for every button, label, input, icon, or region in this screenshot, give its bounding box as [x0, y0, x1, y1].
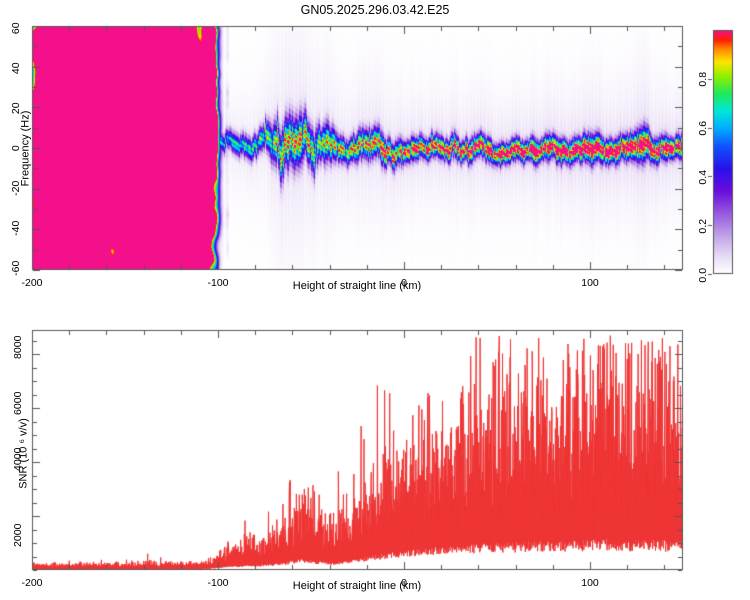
- top-x-tick-label: -100: [207, 278, 228, 289]
- bottom-y-tick-label: 2000: [13, 513, 24, 557]
- top-y-tick-label: -40: [11, 208, 22, 248]
- colorbar-tick-label: 0.2: [698, 206, 709, 246]
- bottom-x-tick-label: 0: [401, 578, 407, 589]
- top-y-tick-label: 20: [11, 88, 22, 128]
- figure-canvas: [0, 0, 750, 600]
- colorbar-tick-label: 0.6: [698, 108, 709, 148]
- top-x-tick-label: -200: [21, 278, 42, 289]
- bottom-y-tick-label: 6000: [13, 381, 24, 425]
- bottom-x-tick-label: 100: [581, 578, 599, 589]
- top-y-axis-title: Frequency (Hz): [21, 89, 32, 209]
- bottom-x-tick-label: -200: [21, 578, 42, 589]
- top-x-tick-label: 0: [401, 278, 407, 289]
- top-y-tick-label: -20: [11, 168, 22, 208]
- bottom-x-tick-label: -100: [207, 578, 228, 589]
- top-y-tick-label: 40: [11, 48, 22, 88]
- bottom-y-tick-label: 8000: [13, 325, 24, 369]
- top-y-tick-label: -60: [11, 248, 22, 288]
- top-x-tick-label: 100: [581, 278, 599, 289]
- top-y-tick-label: 60: [11, 8, 22, 48]
- figure-root: GN05.2025.296.03.42.E25 Height of straig…: [0, 0, 750, 600]
- colorbar-tick-label: 0.4: [698, 157, 709, 197]
- colorbar-tick-label: 0.8: [698, 59, 709, 99]
- colorbar-tick-label: 0.0: [698, 255, 709, 295]
- top-y-tick-label: 0: [11, 128, 22, 168]
- bottom-y-tick-label: 4000: [13, 437, 24, 481]
- page-title: GN05.2025.296.03.42.E25: [301, 4, 450, 17]
